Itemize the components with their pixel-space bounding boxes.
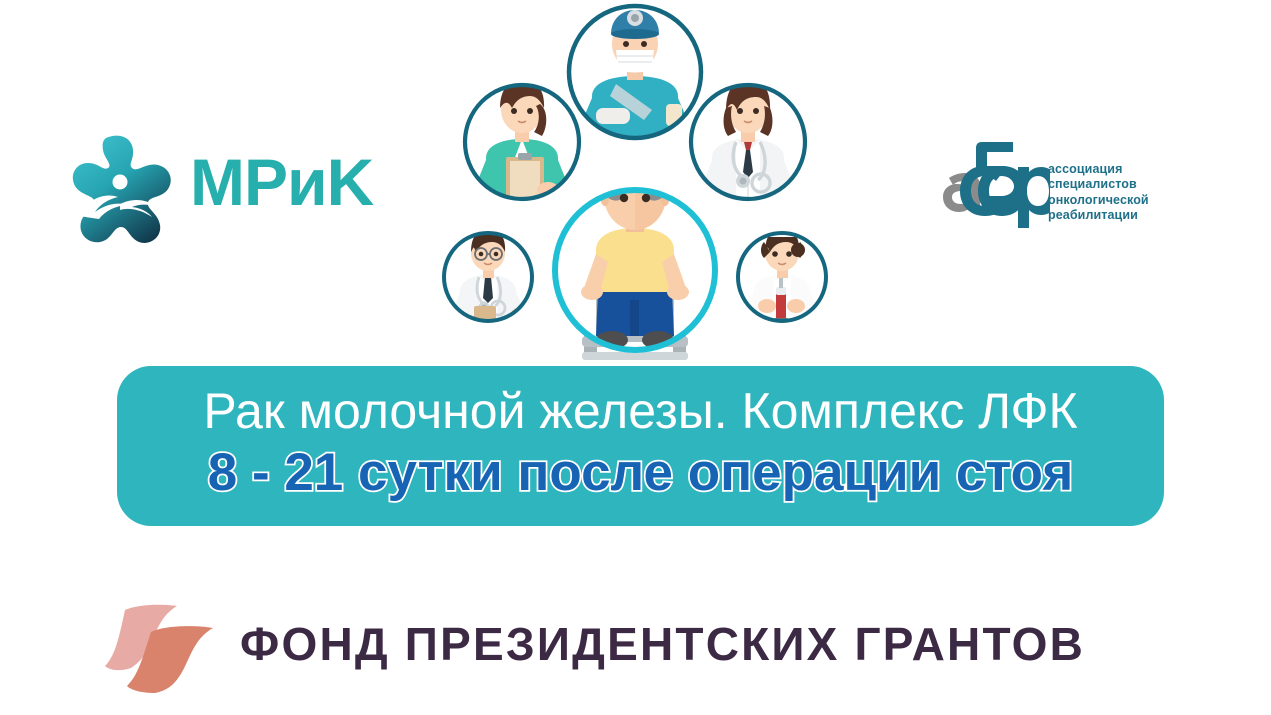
asor-monogram-icon	[940, 140, 1050, 228]
male-doctor-icon	[442, 229, 534, 328]
double-ribbon-icon	[105, 598, 225, 693]
surgeon-with-mask-icon	[569, 6, 701, 138]
presidential-grants-fund-logo: ФОНД ПРЕЗИДЕНТСКИХ ГРАНТОВ	[100, 595, 1170, 695]
title-banner: Рак молочной железы. Комплекс ЛФК 8 - 21…	[117, 366, 1164, 526]
banner-title-line-1: Рак молочной железы. Комплекс ЛФК	[117, 378, 1164, 444]
asor-tagline-line-2: специалистов	[1048, 177, 1149, 192]
presidential-grants-fund-wordmark: ФОНД ПРЕЗИДЕНТСКИХ ГРАНТОВ	[240, 615, 1085, 675]
banner-title-line-2: 8 - 21 сутки после операции стоя	[117, 439, 1164, 508]
slide-canvas: MPиK ассоциация специалистов онкологичес…	[0, 0, 1271, 715]
elderly-patient-in-wheelchair-icon	[555, 162, 715, 360]
asor-logo: ассоциация специалистов онкологической р…	[940, 140, 1160, 250]
asor-tagline-line-1: ассоциация	[1048, 162, 1149, 177]
female-doctor-icon	[691, 79, 805, 199]
mrik-logo: MPиK	[62, 125, 392, 255]
asor-tagline-line-4: реабилитации	[1048, 208, 1149, 223]
asor-tagline: ассоциация специалистов онкологической р…	[1048, 162, 1149, 223]
nurse-with-clipboard-icon	[465, 80, 579, 207]
splash-hands-person-icon	[62, 130, 182, 250]
nurse-with-syringe-icon	[736, 222, 828, 323]
asor-tagline-line-3: онкологической	[1048, 193, 1149, 208]
mrik-wordmark: MPиK	[190, 149, 373, 215]
care-team-around-patient-illustration	[430, 0, 840, 360]
